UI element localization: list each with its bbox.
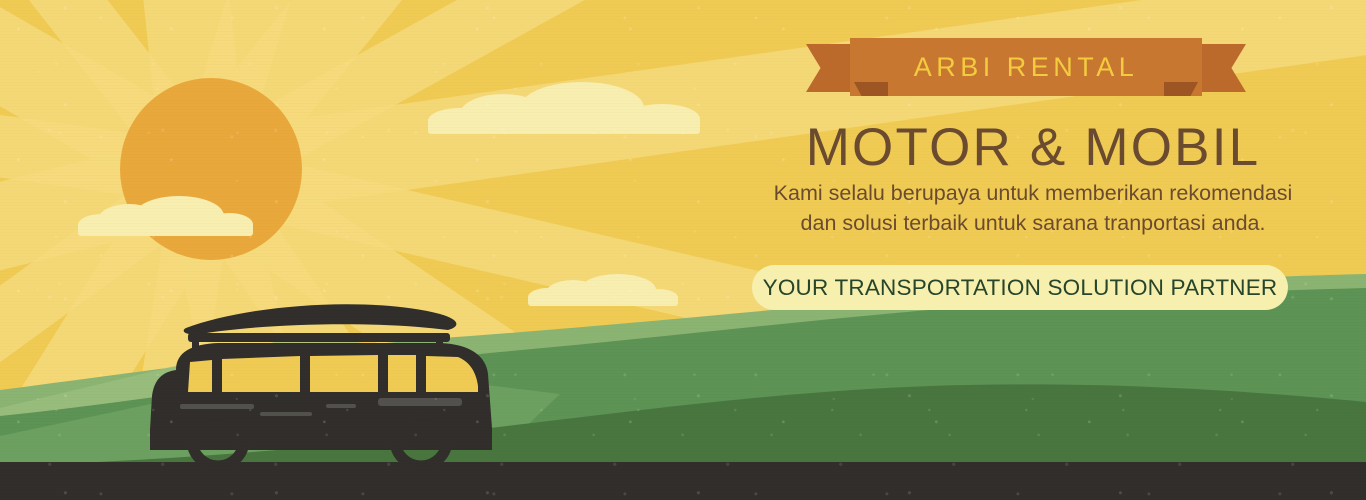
van-window [310, 355, 378, 392]
slogan-pill[interactable]: YOUR TRANSPORTATION SOLUTION PARTNER [752, 265, 1288, 310]
cloud-icon [78, 196, 253, 236]
van-window [388, 355, 416, 392]
van-window [188, 360, 212, 392]
ribbon-badge: ARBI RENTAL [806, 38, 1246, 100]
cloud-puff [520, 82, 644, 134]
cloud-puff [624, 104, 700, 134]
banner-content: ARBI RENTAL MOTOR & MOBIL Kami selalu be… [700, 0, 1366, 500]
van-window [222, 356, 300, 392]
tagline-line-2: dan solusi terbaik untuk sarana tranport… [700, 208, 1366, 238]
van-windows [188, 355, 478, 392]
cloud-icon [428, 82, 700, 134]
promo-banner: ARBI RENTAL MOTOR & MOBIL Kami selalu be… [0, 0, 1366, 500]
roof-rack [188, 333, 450, 342]
tagline-paragraph: Kami selalu berupaya untuk memberikan re… [700, 178, 1366, 238]
page-title: MOTOR & MOBIL [700, 117, 1366, 178]
brand-name: ARBI RENTAL [806, 38, 1246, 96]
tagline-line-1: Kami selalu berupaya untuk memberikan re… [700, 178, 1366, 208]
camper-van-icon [140, 300, 500, 470]
cloud-puff [206, 213, 253, 236]
surfboard-icon [184, 304, 457, 334]
